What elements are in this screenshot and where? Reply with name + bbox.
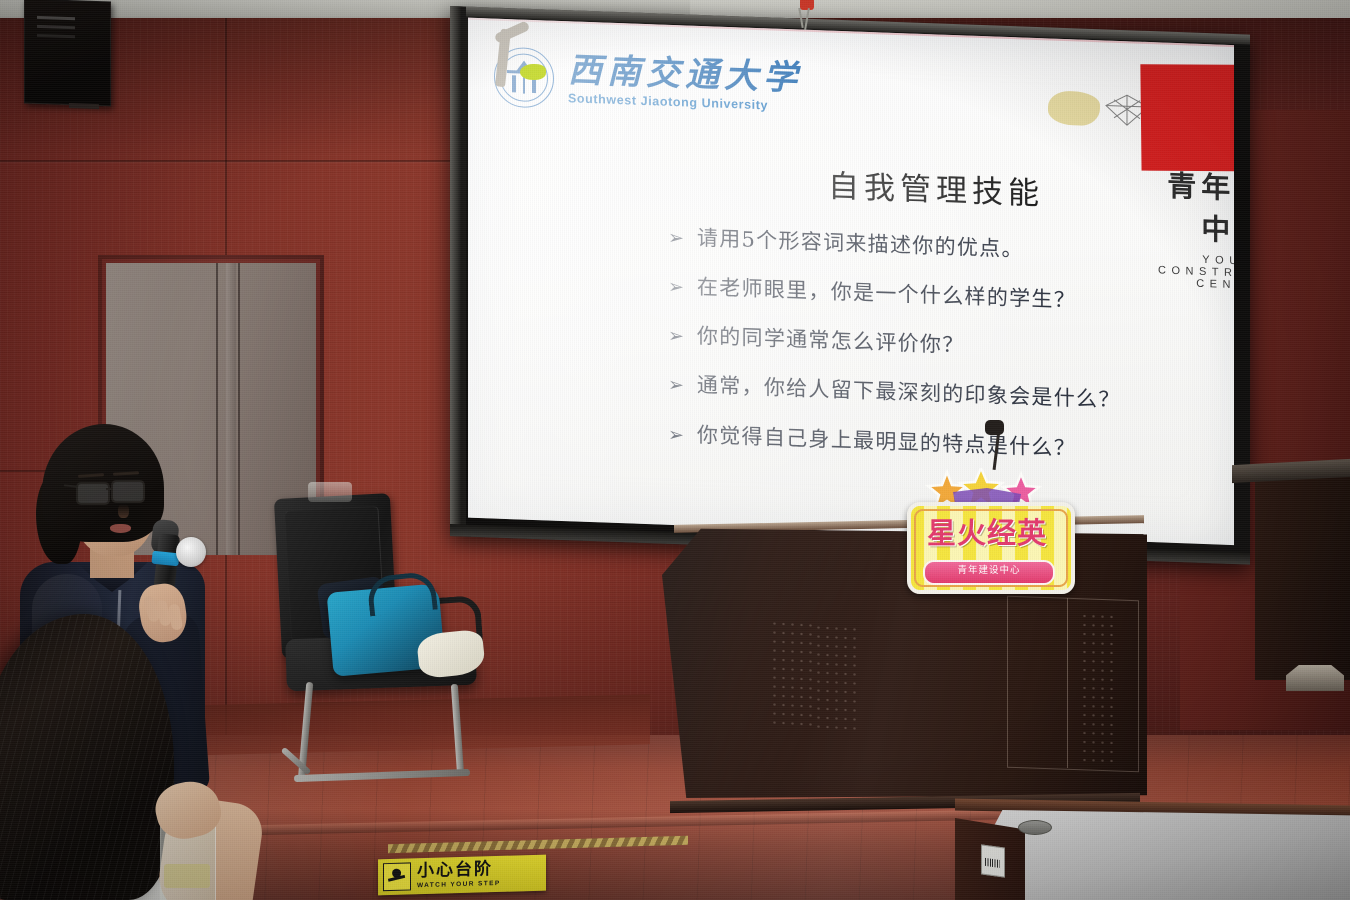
university-name-cn: 西南交通大学 bbox=[568, 53, 802, 95]
caution-sign: 小心台阶 WATCH YOUR STEP bbox=[378, 855, 546, 896]
arrow-bullet-icon: ➢ bbox=[668, 327, 684, 347]
caution-text-block: 小心台阶 WATCH YOUR STEP bbox=[417, 861, 501, 890]
right-cabinet bbox=[1255, 470, 1350, 680]
desk-asset-tag bbox=[981, 844, 1005, 877]
bullet-text: 通常，你给人留下最深刻的印象会是什么？ bbox=[697, 373, 1121, 412]
gooseneck-mic-icon bbox=[985, 420, 1004, 435]
cups-behind-chair bbox=[308, 482, 352, 502]
glasses-lens-left-icon bbox=[76, 482, 110, 505]
podium: 星火经英 青年建设中心 bbox=[662, 520, 1157, 805]
ycc-watermark: 青年建设中心 YOUTH CONSTRUCTION CENTER bbox=[1158, 162, 1234, 294]
ycc-name-cn: 青年建设中心 bbox=[1158, 162, 1234, 252]
bullet-text: 你觉得自己身上最明显的特点是什么？ bbox=[697, 422, 1076, 460]
presenter-mouth bbox=[110, 524, 131, 533]
bottle-label bbox=[164, 864, 210, 888]
podium-speaker-grille bbox=[770, 619, 814, 731]
podium-speaker-grille bbox=[1080, 611, 1116, 762]
speaker-mount bbox=[69, 103, 99, 109]
glasses-bridge bbox=[106, 488, 112, 490]
audience-hair-strands bbox=[0, 614, 174, 900]
podium-speaker-grille bbox=[814, 623, 858, 735]
podium-cabinet-split bbox=[1067, 598, 1068, 768]
emblem-ribbon-text: 青年建设中心 bbox=[925, 562, 1053, 579]
list-item: ➢ 你觉得自己身上最明显的特点是什么？ bbox=[668, 421, 1228, 465]
list-item: ➢ 你的同学通常怎么评价你？ bbox=[668, 323, 1228, 367]
chair-base-rail bbox=[294, 769, 470, 782]
slide-bullet-list: ➢ 请用5个形容词来描述你的优点。 ➢ 在老师眼里，你是一个什么样的学生？ ➢ … bbox=[668, 225, 1228, 491]
caution-text-en: WATCH YOUR STEP bbox=[417, 881, 501, 890]
furniture-foot bbox=[1286, 665, 1344, 691]
podium-cabinet-door[interactable] bbox=[1007, 596, 1139, 773]
emblem-ribbon: 青年建设中心 bbox=[923, 560, 1055, 585]
list-item: ➢ 通常，你给人留下最深刻的印象会是什么？ bbox=[668, 372, 1228, 416]
slide-title: 自我管理技能 bbox=[468, 148, 1234, 220]
audience-member bbox=[0, 614, 284, 900]
slip-hazard-icon bbox=[383, 862, 411, 891]
glasses-lens-right-icon bbox=[111, 480, 145, 503]
emblem-title: 星火经英 bbox=[907, 510, 1067, 552]
arrow-bullet-icon: ➢ bbox=[668, 425, 684, 445]
arrow-bullet-icon: ➢ bbox=[668, 229, 684, 249]
podium-emblem: 星火经英 青年建设中心 bbox=[907, 468, 1067, 596]
chair-leg bbox=[451, 684, 464, 776]
red-seal-graphic bbox=[1138, 60, 1234, 176]
list-item: ➢ 请用5个形容词来描述你的优点。 bbox=[668, 225, 1228, 269]
presenter-nose bbox=[118, 504, 129, 518]
ycc-name-en: YOUTH CONSTRUCTION CENTER bbox=[1158, 252, 1234, 294]
bullet-text: 请用5个形容词来描述你的优点。 bbox=[697, 226, 1024, 262]
audience-hair bbox=[0, 614, 174, 900]
list-item: ➢ 在老师眼里，你是一个什么样的学生？ bbox=[668, 274, 1228, 318]
lecture-hall-photo: 西南交通大学 Southwest Jiaotong University bbox=[0, 0, 1350, 900]
microphone-disc bbox=[176, 537, 206, 567]
screen-bezel-left bbox=[450, 6, 466, 537]
chair bbox=[272, 496, 482, 786]
bullet-text: 在老师眼里，你是一个什么样的学生？ bbox=[697, 275, 1076, 313]
speaker-slots bbox=[37, 16, 75, 20]
arrow-bullet-icon: ➢ bbox=[668, 376, 684, 396]
desk-cable-grommet bbox=[1018, 820, 1052, 835]
slide-surface: 西南交通大学 Southwest Jiaotong University bbox=[468, 18, 1234, 545]
seal-pillar bbox=[512, 75, 516, 92]
side-desk bbox=[955, 796, 1350, 900]
caution-text-cn: 小心台阶 bbox=[417, 861, 501, 880]
wall-seam bbox=[0, 160, 460, 162]
university-name-block: 西南交通大学 Southwest Jiaotong University bbox=[568, 53, 802, 113]
university-logo: 西南交通大学 Southwest Jiaotong University bbox=[494, 47, 802, 118]
arrow-bullet-icon: ➢ bbox=[668, 278, 684, 298]
seal-branch-icon bbox=[494, 20, 531, 44]
amba-blob-icon bbox=[1048, 90, 1100, 126]
wall-speaker-icon bbox=[24, 0, 111, 107]
seal-bird-icon bbox=[520, 64, 546, 81]
projection-screen: 西南交通大学 Southwest Jiaotong University bbox=[450, 6, 1250, 565]
bullet-text: 你的同学通常怎么评价你？ bbox=[697, 324, 965, 358]
